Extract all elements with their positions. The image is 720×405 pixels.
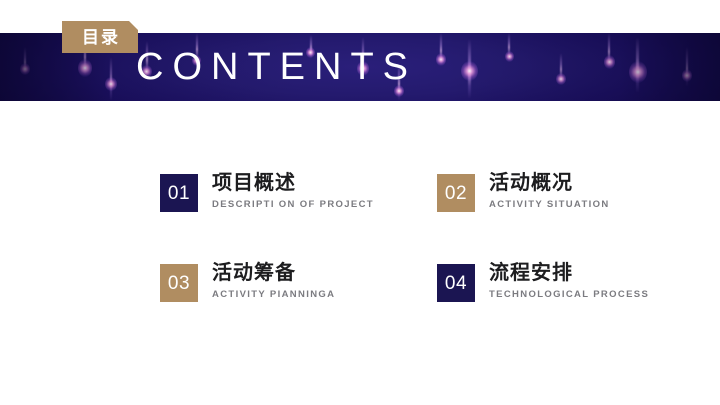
sparkle-beam	[110, 57, 112, 101]
sparkle-glow	[436, 53, 446, 66]
item-number-badge: 04	[437, 264, 475, 302]
sparkle-glow	[505, 51, 514, 62]
item-number-badge: 03	[160, 264, 198, 302]
contents-slide: CONTENTS 目录 01 项目概述 DESCRIPTI ON OF PROJ…	[0, 0, 720, 405]
contents-list: 01 项目概述 DESCRIPTI ON OF PROJECT 02 活动概况 …	[0, 160, 720, 335]
sparkle-beam	[24, 47, 26, 75]
sparkle-glow	[556, 73, 566, 85]
list-item[interactable]: 04 流程安排 TECHNOLOGICAL PROCESS	[437, 262, 649, 302]
list-item[interactable]: 02 活动概况 ACTIVITY SITUATION	[437, 172, 610, 212]
item-subtitle: TECHNOLOGICAL PROCESS	[489, 288, 649, 301]
item-text-block: 项目概述 DESCRIPTI ON OF PROJECT	[212, 172, 374, 211]
list-item[interactable]: 03 活动筹备 ACTIVITY PIANNINGA	[160, 262, 335, 302]
sparkle-glow	[604, 55, 615, 69]
item-subtitle: ACTIVITY PIANNINGA	[212, 288, 335, 301]
item-text-block: 活动筹备 ACTIVITY PIANNINGA	[212, 262, 335, 301]
list-item[interactable]: 01 项目概述 DESCRIPTI ON OF PROJECT	[160, 172, 374, 212]
item-title: 流程安排	[489, 261, 649, 285]
sparkle-beam	[468, 39, 471, 99]
item-text-block: 活动概况 ACTIVITY SITUATION	[489, 172, 610, 211]
sparkle-glow	[20, 63, 30, 75]
item-number-badge: 01	[160, 174, 198, 212]
item-subtitle: DESCRIPTI ON OF PROJECT	[212, 198, 374, 211]
section-tab: 目录	[62, 21, 138, 53]
sparkle-beam	[686, 47, 688, 87]
section-tab-label: 目录	[80, 29, 120, 46]
item-number-badge: 02	[437, 174, 475, 212]
sparkle-beam	[440, 33, 442, 65]
item-title: 项目概述	[212, 171, 374, 195]
item-title: 活动筹备	[212, 261, 335, 285]
sparkle-beam	[608, 33, 610, 67]
sparkle-glow	[105, 77, 117, 91]
sparkle-beam	[508, 33, 510, 59]
item-subtitle: ACTIVITY SITUATION	[489, 198, 610, 211]
sparkle-glow	[682, 69, 692, 82]
sparkle-glow	[629, 61, 647, 83]
sparkle-beam	[560, 53, 562, 83]
sparkle-glow	[78, 59, 92, 77]
sparkle-glow	[461, 61, 478, 81]
item-title: 活动概况	[489, 171, 610, 195]
item-text-block: 流程安排 TECHNOLOGICAL PROCESS	[489, 262, 649, 301]
sparkle-beam	[636, 37, 639, 93]
page-title: CONTENTS	[136, 47, 417, 87]
